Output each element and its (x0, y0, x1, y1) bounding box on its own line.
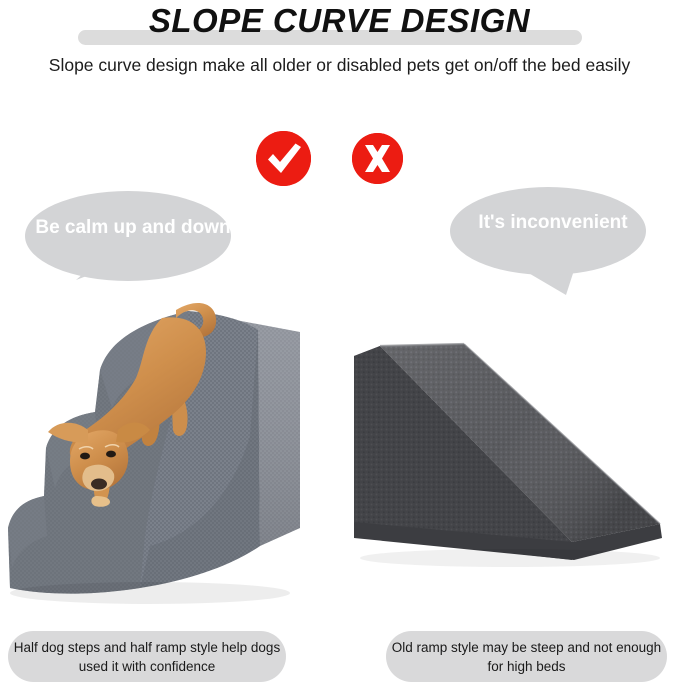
speech-bubble-right: It's inconvenient (448, 183, 658, 328)
product-image-dog-stairs (0, 296, 336, 612)
comparison-badge-row (0, 131, 679, 191)
check-mark-icon (256, 131, 311, 186)
page-subtitle: Slope curve design make all older or dis… (0, 53, 679, 78)
caption-left: Half dog steps and half ramp style help … (8, 631, 286, 682)
page-title: SLOPE CURVE DESIGN (0, 2, 679, 40)
x-mark-icon (352, 133, 403, 184)
header-block: SLOPE CURVE DESIGN Slope curve design ma… (0, 0, 679, 112)
product-image-wedge-ramp (340, 326, 679, 608)
caption-right: Old ramp style may be steep and not enou… (386, 631, 667, 682)
